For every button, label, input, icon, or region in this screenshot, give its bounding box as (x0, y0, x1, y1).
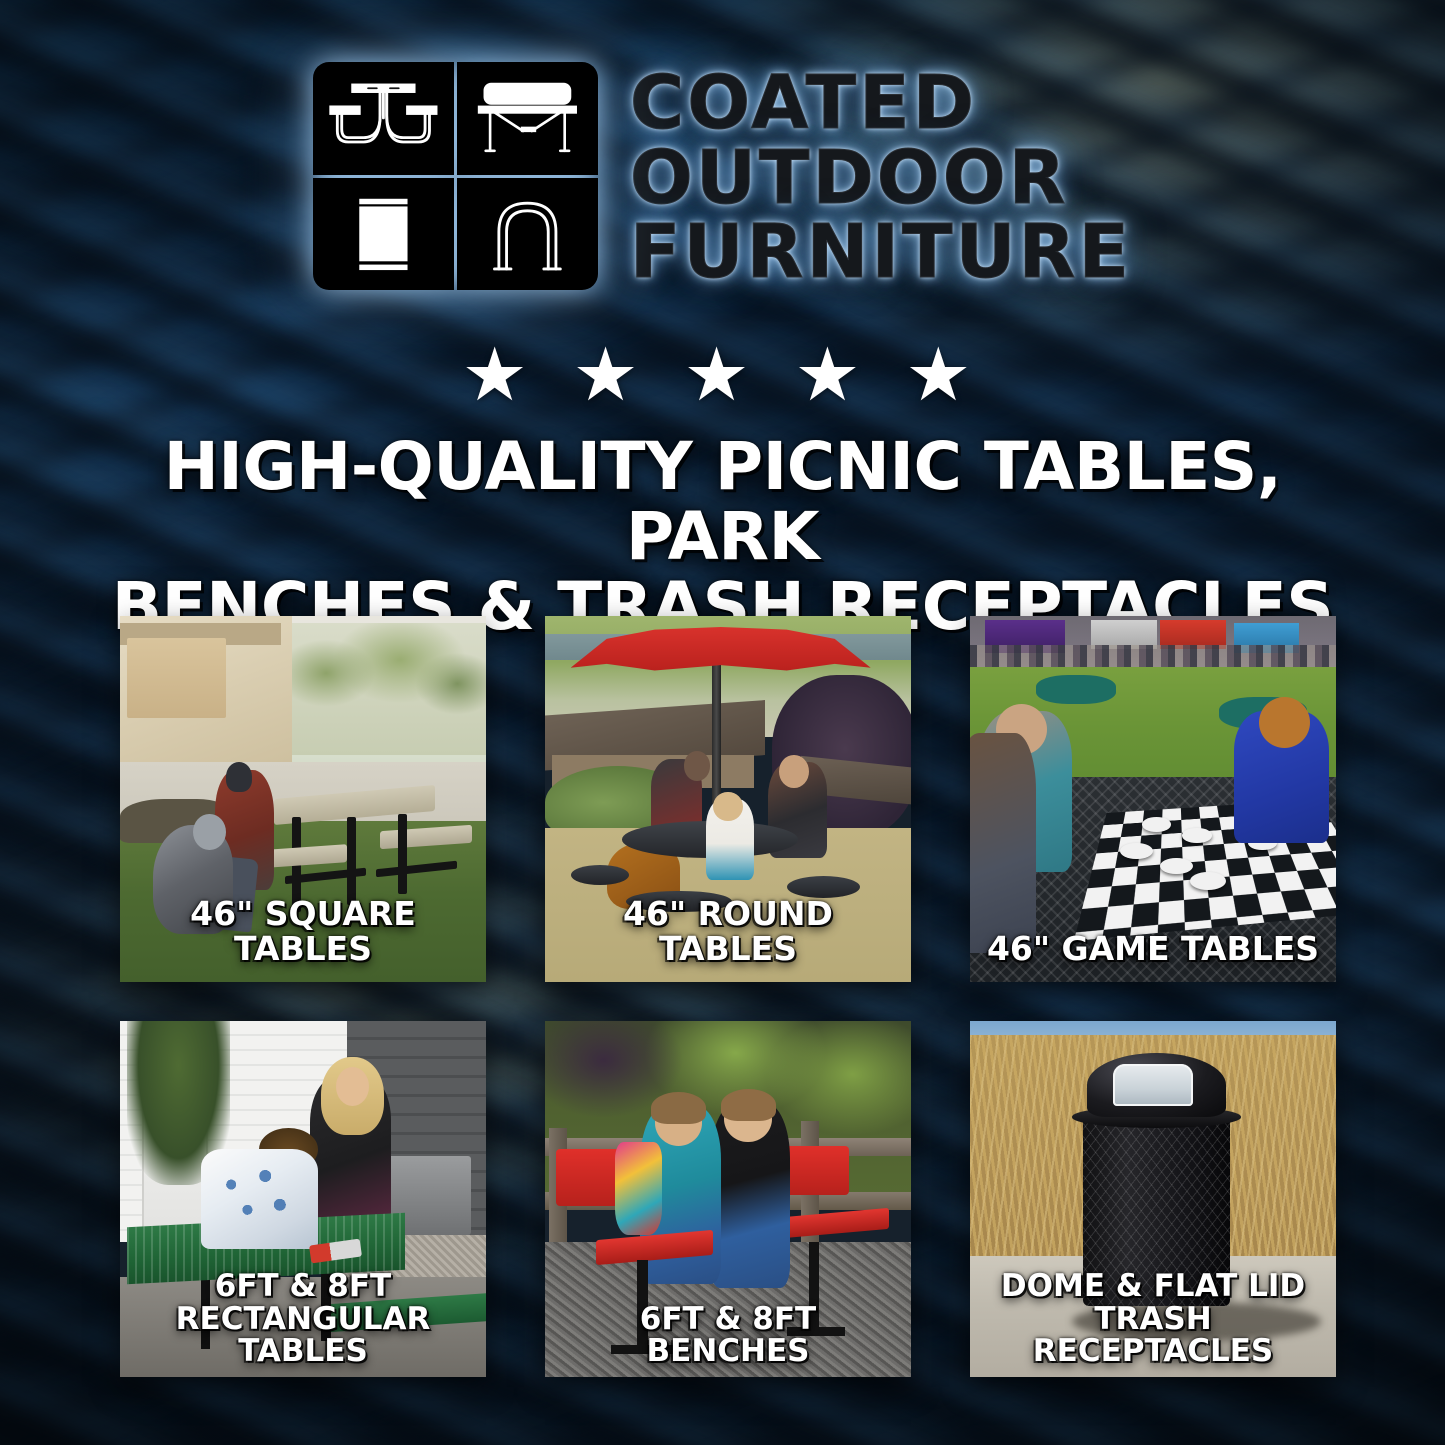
caption-line-2: BENCHES (551, 1335, 905, 1367)
caption-line-1: 6FT & 8FT (215, 1268, 391, 1304)
caption-line-2: RECTANGULAR TABLES (126, 1303, 480, 1367)
tile-caption: 46" GAME TABLES (976, 932, 1330, 966)
caption-line-1: 46" ROUND TABLES (623, 894, 833, 967)
product-tile-rectangular-tables[interactable]: 6FT & 8FT RECTANGULAR TABLES (120, 1021, 486, 1377)
caption-line-1: 46" GAME TABLES (987, 929, 1319, 968)
page-title: HIGH-QUALITY PICNIC TABLES, PARK BENCHES… (60, 432, 1385, 642)
product-tile-game-tables[interactable]: 46" GAME TABLES (970, 616, 1336, 982)
product-tile-round-tables[interactable]: 46" ROUND TABLES (545, 616, 911, 982)
brand-line-1: COATED (630, 67, 1132, 140)
caption-line-1: 46" SQUARE TABLES (190, 894, 416, 967)
caption-line-1: DOME & FLAT LID (1001, 1268, 1305, 1304)
poster-content: COATED OUTDOOR FURNITURE ★ ★ ★ ★ ★ HIGH-… (0, 0, 1445, 1445)
brand-wordmark: COATED OUTDOOR FURNITURE (630, 63, 1132, 289)
caption-line-2: TRASH RECEPTACLES (976, 1303, 1330, 1367)
tile-caption: 46" ROUND TABLES (551, 897, 905, 966)
product-tile-trash-receptacles[interactable]: DOME & FLAT LID TRASH RECEPTACLES (970, 1021, 1336, 1377)
poster-canvas: COATED OUTDOOR FURNITURE ★ ★ ★ ★ ★ HIGH-… (0, 0, 1445, 1445)
tile-caption: 6FT & 8FT BENCHES (551, 1303, 905, 1367)
product-tile-square-tables[interactable]: 46" SQUARE TABLES (120, 616, 486, 982)
product-tile-benches[interactable]: 6FT & 8FT BENCHES (545, 1021, 911, 1377)
brand-line-3: FURNITURE (630, 216, 1132, 289)
tile-caption: DOME & FLAT LID TRASH RECEPTACLES (976, 1270, 1330, 1367)
caption-line-1: 6FT & 8FT (640, 1301, 816, 1337)
tile-caption: 6FT & 8FT RECTANGULAR TABLES (126, 1270, 480, 1367)
photo-game-tables (970, 616, 1336, 982)
tile-caption: 46" SQUARE TABLES (126, 897, 480, 966)
brand-line-2: OUTDOOR (630, 142, 1132, 215)
brand-logo: COATED OUTDOOR FURNITURE (0, 62, 1445, 290)
picnic-table-frame-icon (313, 62, 454, 175)
logo-icon-grid (313, 62, 598, 290)
trash-receptacle-icon (313, 178, 454, 291)
bench-side-icon (457, 62, 598, 175)
star-rating: ★ ★ ★ ★ ★ (0, 338, 1445, 412)
headline-line-1: HIGH-QUALITY PICNIC TABLES, PARK (60, 432, 1385, 572)
bike-rack-arch-icon (457, 178, 598, 291)
product-grid: 46" SQUARE TABLES (120, 616, 1326, 1377)
